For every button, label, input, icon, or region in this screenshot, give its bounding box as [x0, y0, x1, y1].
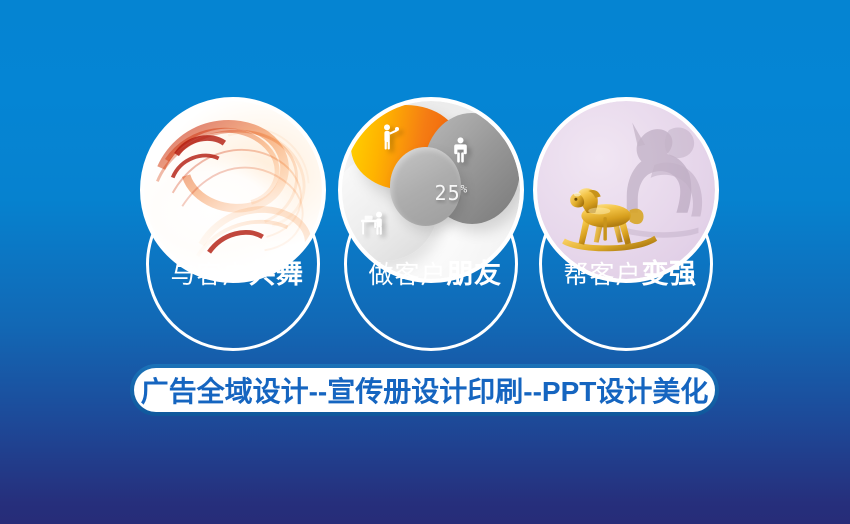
smoke-background [144, 101, 322, 279]
service-banner-text: 广告全域设计--宣传册设计印刷--PPT设计美化 [141, 370, 709, 410]
smoke-swirl-icon [144, 101, 322, 279]
service-banner-inner: 广告全域设计--宣传册设计印刷--PPT设计美化 [134, 368, 715, 412]
smoke-artwork [144, 101, 322, 279]
infographic-artwork: 25% [342, 101, 520, 279]
caption-bold: 朋友 [447, 259, 502, 289]
poster-canvas: 与客户共舞 [0, 0, 850, 524]
person-standing-icon [452, 137, 469, 163]
stat-value: 25 [435, 181, 461, 205]
caption-soft: 与客户 [170, 261, 248, 289]
stat-percentage: 25% [435, 181, 469, 205]
pillar-caption: 做客户朋友 [330, 261, 540, 288]
person-presenting-icon [379, 124, 399, 150]
person-at-desk-icon [360, 211, 390, 235]
pillar-group: 与客户共舞 [0, 0, 850, 340]
pillar-friend-of-customer[interactable]: 25% 做客户朋友 [330, 95, 540, 335]
lavender-background [537, 101, 715, 279]
rocking-horse-artwork [537, 101, 715, 279]
stat-unit: % [461, 182, 469, 195]
caption-bold: 变强 [642, 259, 697, 289]
pillar-dance-with-customer[interactable]: 与客户共舞 [132, 95, 342, 335]
golden-rocking-horse-icon [558, 179, 661, 261]
caption-soft: 帮客户 [563, 261, 641, 289]
art-disc [140, 97, 326, 283]
caption-soft: 做客户 [368, 261, 446, 289]
caption-bold: 共舞 [249, 259, 304, 289]
infographic-background: 25% [342, 101, 520, 279]
service-banner[interactable]: 广告全域设计--宣传册设计印刷--PPT设计美化 [130, 364, 719, 416]
pillar-caption: 帮客户变强 [525, 261, 735, 288]
art-disc: 25% [338, 97, 524, 283]
pillar-caption: 与客户共舞 [132, 261, 342, 288]
pillar-make-customer-stronger[interactable]: 帮客户变强 [525, 95, 735, 335]
art-disc [533, 97, 719, 283]
